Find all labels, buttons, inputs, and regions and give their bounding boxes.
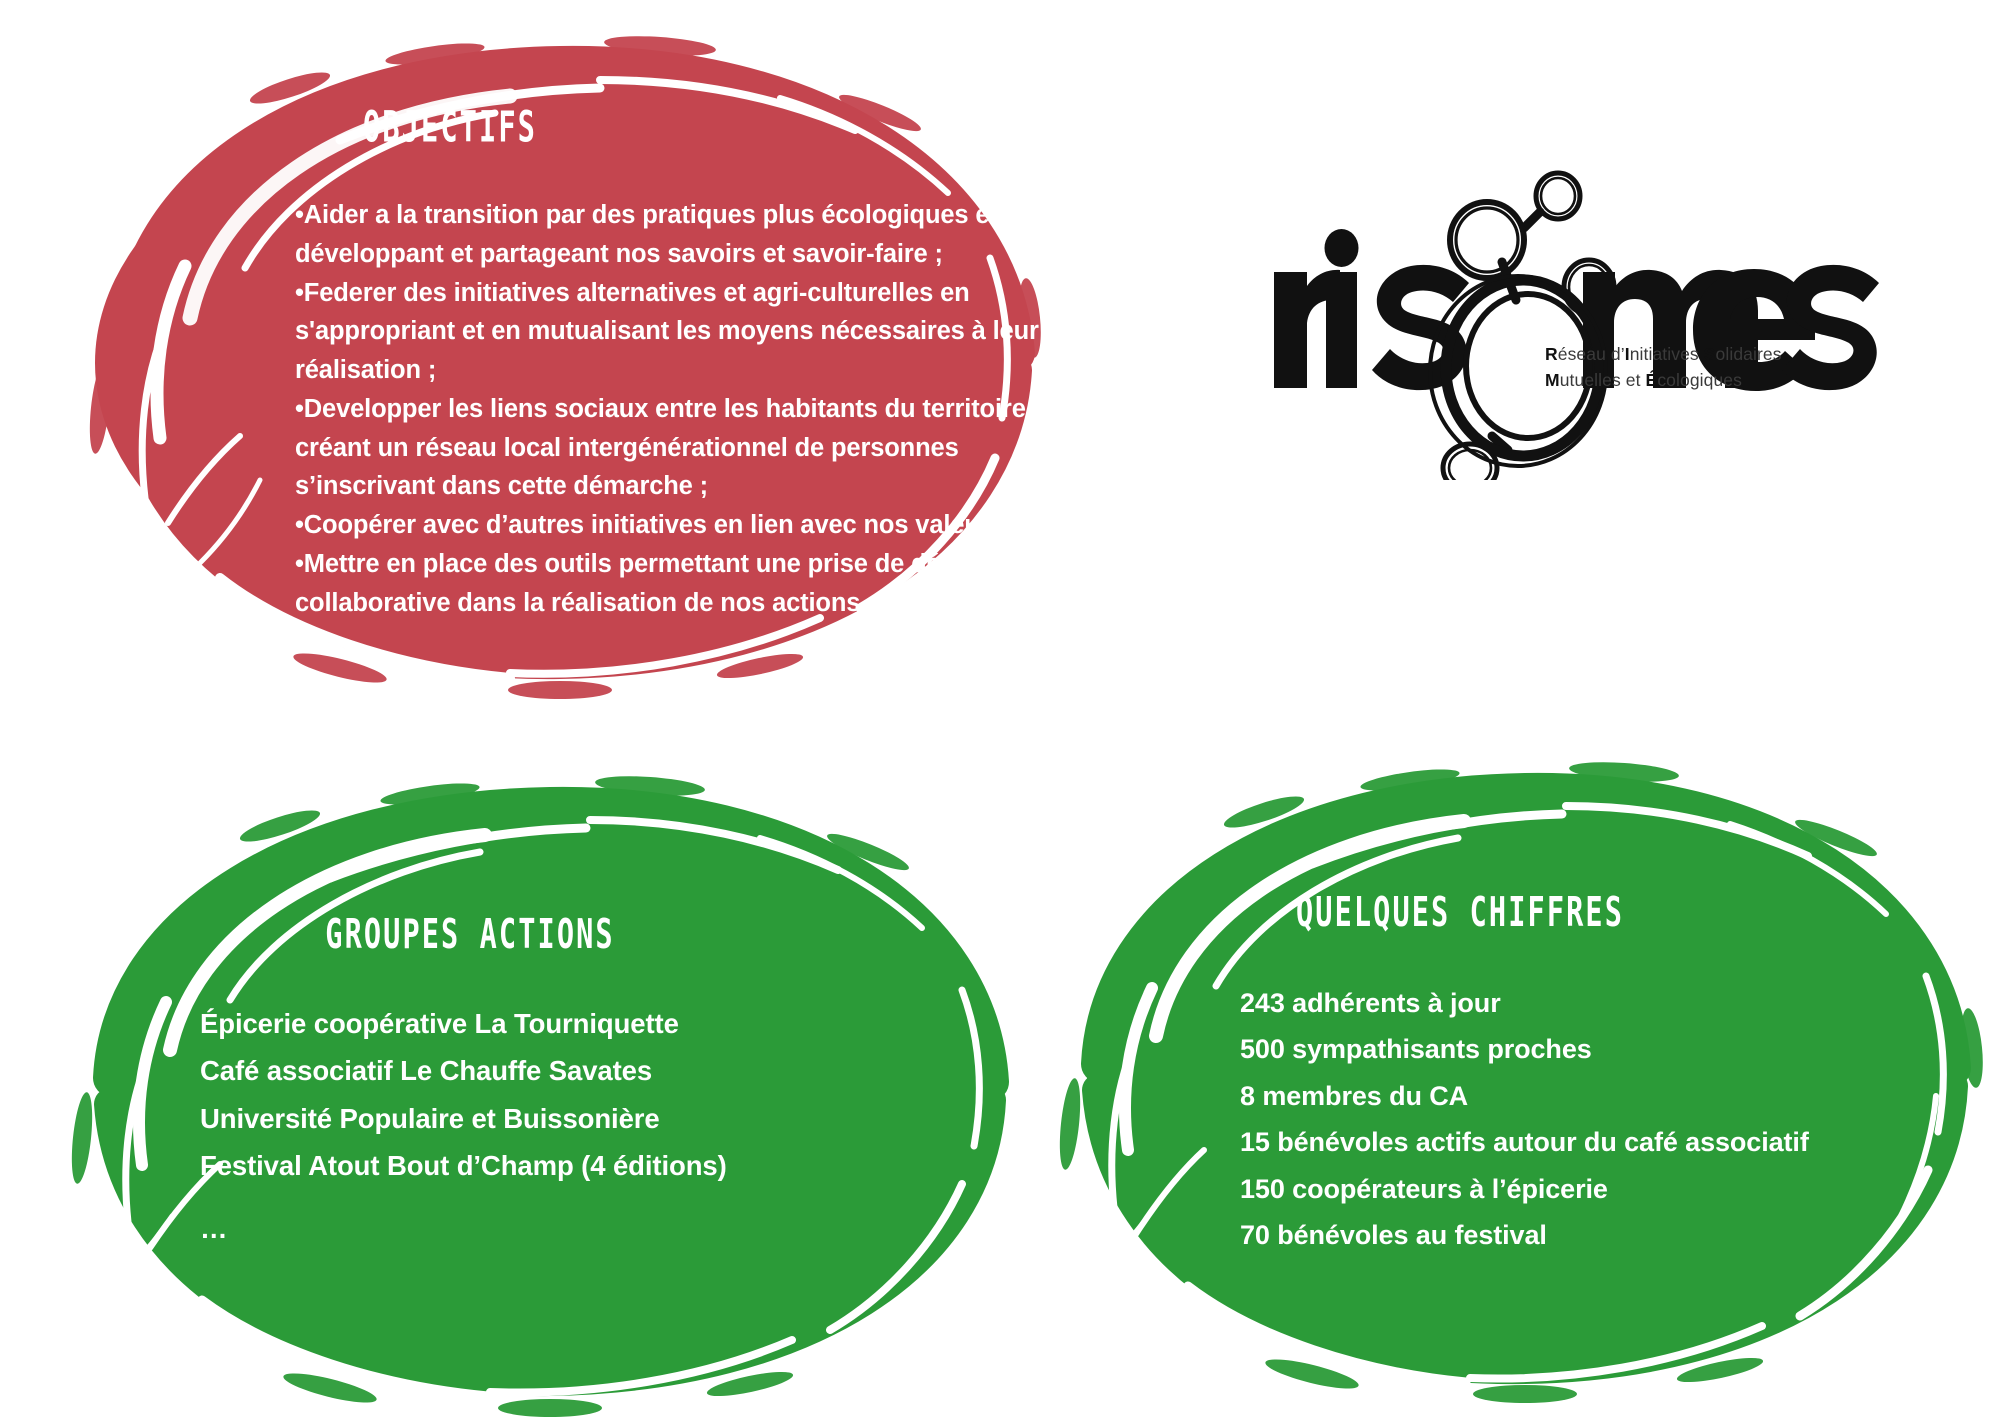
- quelques-chiffres-title: QUELQUES CHIFFRES: [1200, 889, 1721, 937]
- groupes-actions-blob: GROUPES ACTIONS Épicerie coopérative La …: [30, 760, 1070, 1420]
- quelques-chiffres-item: 150 coopérateurs à l’épicerie: [1240, 1166, 2000, 1212]
- quelques-chiffres-blob: QUELQUES CHIFFRES 243 adhérents à jour 5…: [1020, 748, 2000, 1408]
- logo-mark: [1240, 150, 1900, 480]
- quelques-chiffres-list: 243 adhérents à jour 500 sympathisants p…: [1240, 980, 2000, 1259]
- tagline-cap-e: É: [1646, 370, 1658, 390]
- tagline-cap-m: M: [1545, 370, 1560, 390]
- groupes-actions-list: Épicerie coopérative La Tourniquette Caf…: [200, 1000, 1030, 1252]
- tagline-cap-r: R: [1545, 344, 1558, 364]
- groupes-actions-item: Université Populaire et Buissonière: [200, 1095, 1030, 1142]
- tagline-text: cologiques: [1657, 370, 1742, 390]
- groupes-actions-item: Café associatif Le Chauffe Savates: [200, 1047, 1030, 1094]
- objectives-list: •Aider a la transition par des pratiques…: [295, 196, 1105, 622]
- logo-tagline-line2: Mutuelles et Écologiques: [1545, 368, 1885, 394]
- objectives-item: •Federer des initiatives alternatives et…: [295, 274, 1105, 390]
- objectives-item: •Aider a la transition par des pratiques…: [295, 196, 1105, 274]
- poster-canvas: OBJECTIFS •Aider a la transition par des…: [0, 0, 2000, 1414]
- groupes-actions-item: Festival Atout Bout d’Champ (4 éditions): [200, 1142, 1030, 1189]
- logo-tagline: Réseau d’Initiatives Solidaires Mutuelle…: [1545, 342, 1885, 394]
- quelques-chiffres-item: 500 sympathisants proches: [1240, 1026, 2000, 1072]
- quelques-chiffres-item: 70 bénévoles au festival: [1240, 1212, 2000, 1258]
- groupes-actions-ellipsis: …: [200, 1205, 1030, 1252]
- tagline-text: olidaires: [1716, 344, 1782, 364]
- objectives-item: •Developper les liens sociaux entre les …: [295, 390, 1105, 506]
- objectives-blob: OBJECTIFS •Aider a la transition par des…: [40, 18, 1190, 708]
- risomes-logo: Réseau d’Initiatives Solidaires Mutuelle…: [1240, 150, 1900, 480]
- objectives-item: •Coopérer avec d’autres initiatives en l…: [295, 506, 1105, 545]
- groupes-actions-item: Épicerie coopérative La Tourniquette: [200, 1000, 1030, 1047]
- tagline-text: nitiatives: [1630, 344, 1704, 364]
- quelques-chiffres-item: 15 bénévoles actifs autour du café assoc…: [1240, 1119, 2000, 1165]
- groupes-actions-title: GROUPES ACTIONS: [210, 911, 731, 959]
- quelques-chiffres-item: 243 adhérents à jour: [1240, 980, 2000, 1026]
- objectives-item: •Mettre en place des outils permettant u…: [295, 545, 1105, 623]
- tagline-cap-s: S: [1704, 344, 1716, 364]
- logo-tagline-line1: Réseau d’Initiatives Solidaires: [1545, 342, 1885, 368]
- tagline-text: utuelles et: [1560, 370, 1646, 390]
- objectives-title: OBJECTIFS: [114, 104, 786, 153]
- quelques-chiffres-item: 8 membres du CA: [1240, 1073, 2000, 1119]
- tagline-text: éseau d’: [1558, 344, 1625, 364]
